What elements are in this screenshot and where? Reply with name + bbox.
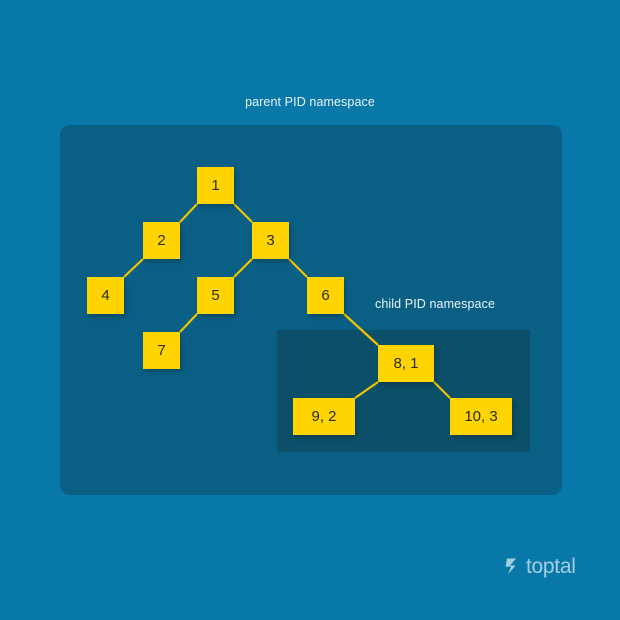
tree-edge [124,259,143,277]
process-node: 9, 2 [293,398,355,435]
process-node: 3 [252,222,289,259]
toptal-logo: toptal [505,556,576,577]
process-node: 2 [143,222,180,259]
process-node: 7 [143,332,180,369]
tree-edge [355,382,378,398]
process-node: 6 [307,277,344,314]
tree-edge [234,259,252,277]
process-node: 8, 1 [378,345,434,382]
tree-edge [289,259,307,277]
diagram-canvas: parent PID namespace child PID namespace… [0,0,620,620]
toptal-chevron-icon [505,558,520,575]
process-node: 1 [197,167,234,204]
toptal-wordmark: toptal [526,556,576,577]
tree-edge [234,204,252,222]
process-node: 10, 3 [450,398,512,435]
tree-edge [180,314,197,332]
process-node: 4 [87,277,124,314]
process-node: 5 [197,277,234,314]
tree-edge [180,204,197,222]
tree-edge [344,314,378,345]
tree-edge [434,382,450,398]
